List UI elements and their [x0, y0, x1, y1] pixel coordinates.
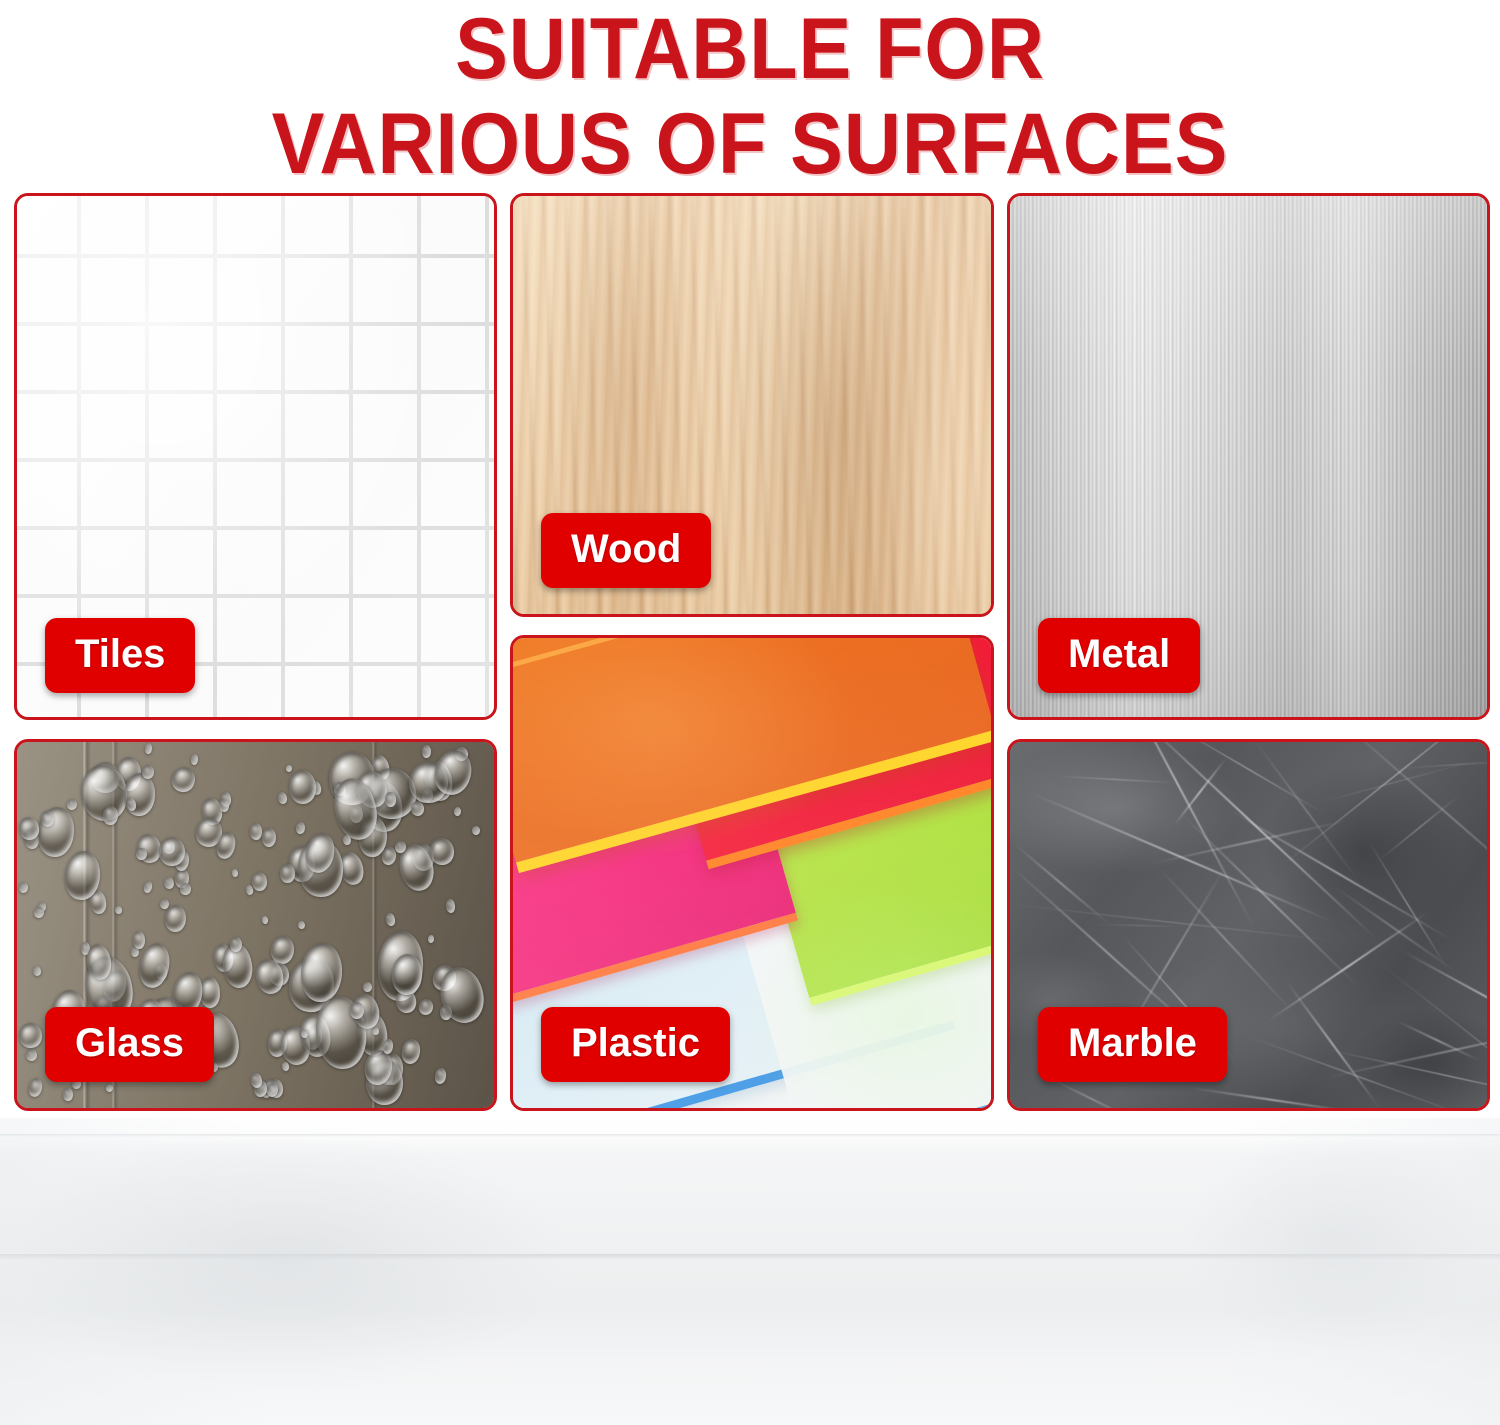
- water-droplet: [160, 898, 169, 909]
- marble-vein: [1098, 739, 1256, 930]
- marble-vein: [1190, 1087, 1356, 1111]
- surface-panel-plastic[interactable]: Plastic: [510, 635, 994, 1111]
- surface-panel-wood[interactable]: Wood: [510, 193, 994, 617]
- water-droplet: [297, 920, 305, 929]
- water-droplet: [280, 864, 295, 883]
- surface-panel-glass[interactable]: Glass: [14, 739, 497, 1111]
- water-droplet: [362, 981, 372, 992]
- surface-panel-marble[interactable]: Marble: [1007, 739, 1490, 1111]
- marble-vein: [1054, 775, 1178, 783]
- marble-vein: [1249, 739, 1361, 884]
- marble-vein: [1092, 923, 1186, 926]
- marble-vein: [1324, 1049, 1490, 1105]
- surface-label-metal: Metal: [1038, 618, 1200, 693]
- page-title: SUITABLE FOR VARIOUS OF SURFACES: [0, 2, 1500, 185]
- marble-vein: [1286, 981, 1380, 1108]
- page-title-line-1: SUITABLE FOR: [60, 2, 1440, 91]
- page-title-line-2: VARIOUS OF SURFACES: [60, 91, 1440, 186]
- surface-label-tiles: Tiles: [45, 618, 195, 693]
- water-droplet: [218, 799, 229, 813]
- footer-surface-seam: [0, 1254, 1500, 1260]
- water-droplet: [427, 935, 434, 944]
- surface-label-wood: Wood: [541, 513, 711, 588]
- marble-vein: [1335, 886, 1456, 971]
- surface-label-marble: Marble: [1038, 1007, 1227, 1082]
- surface-label-glass: Glass: [45, 1007, 214, 1082]
- surface-panel-metal[interactable]: Metal: [1007, 193, 1490, 720]
- marble-vein: [1397, 1021, 1480, 1062]
- marble-vein: [1052, 1078, 1131, 1111]
- water-droplet: [371, 1027, 379, 1035]
- marble-vein: [1266, 912, 1428, 1023]
- surfaces-infographic: SUITABLE FOR VARIOUS OF SURFACES Tiles W…: [0, 0, 1500, 1425]
- water-droplet: [158, 836, 185, 866]
- marble-vein: [1156, 865, 1294, 1013]
- surface-label-plastic: Plastic: [541, 1007, 730, 1082]
- surface-panel-grid: Tiles Wood Metal Glass: [14, 193, 1490, 1111]
- footer-white-surface: [0, 1118, 1500, 1425]
- surface-panel-tiles[interactable]: Tiles: [14, 193, 497, 720]
- marble-vein: [1378, 794, 1460, 861]
